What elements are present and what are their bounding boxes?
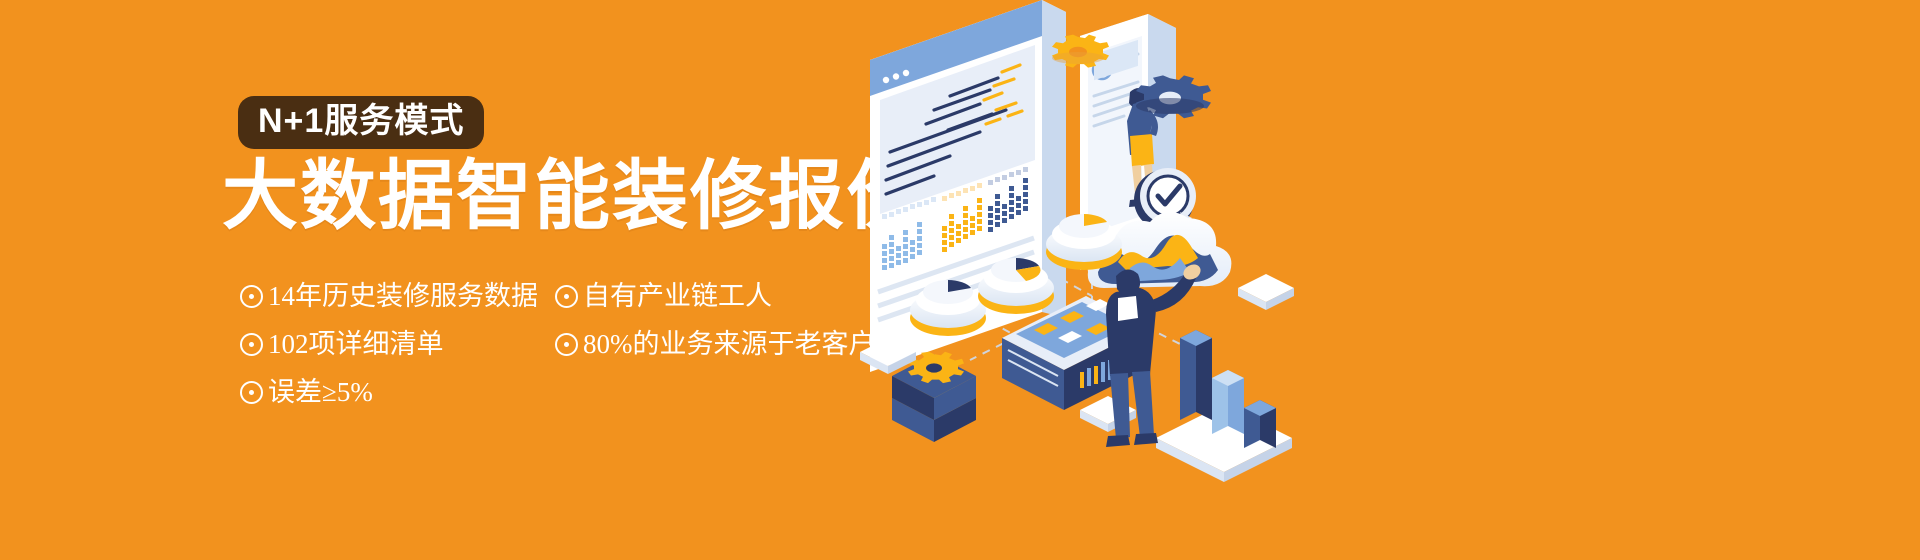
- circled-dot-icon: [240, 285, 263, 308]
- circled-dot-icon: [555, 285, 578, 308]
- list-item-label: 误差≥5%: [268, 379, 373, 406]
- circled-dot-icon: [555, 333, 578, 356]
- list-item: 102项详细清单: [240, 331, 555, 358]
- list-item-label: 14年历史装修服务数据: [268, 283, 538, 310]
- bar-chart-blocks: [1156, 330, 1292, 482]
- page-title: 大数据智能装修报价: [222, 158, 924, 234]
- list-item: 误差≥5%: [240, 379, 555, 406]
- list-item: 80%的业务来源于老客户: [555, 331, 875, 358]
- list-item-label: 自有产业链工人: [583, 283, 772, 310]
- list-item: 14年历史装修服务数据: [240, 283, 555, 310]
- feature-list: 14年历史装修服务数据 自有产业链工人 102项详细清单 80%的业务来源于老客…: [240, 272, 875, 416]
- promo-banner: N+1服务模式 大数据智能装修报价 14年历史装修服务数据 自有产业链工人 10…: [0, 0, 1920, 560]
- list-item-label: 102项详细清单: [268, 331, 444, 358]
- circled-dot-icon: [240, 381, 263, 404]
- list-item: 自有产业链工人: [555, 283, 875, 310]
- service-mode-badge: N+1服务模式: [238, 96, 484, 149]
- circled-dot-icon: [240, 333, 263, 356]
- isometric-big-data-illustration: [830, 0, 1390, 560]
